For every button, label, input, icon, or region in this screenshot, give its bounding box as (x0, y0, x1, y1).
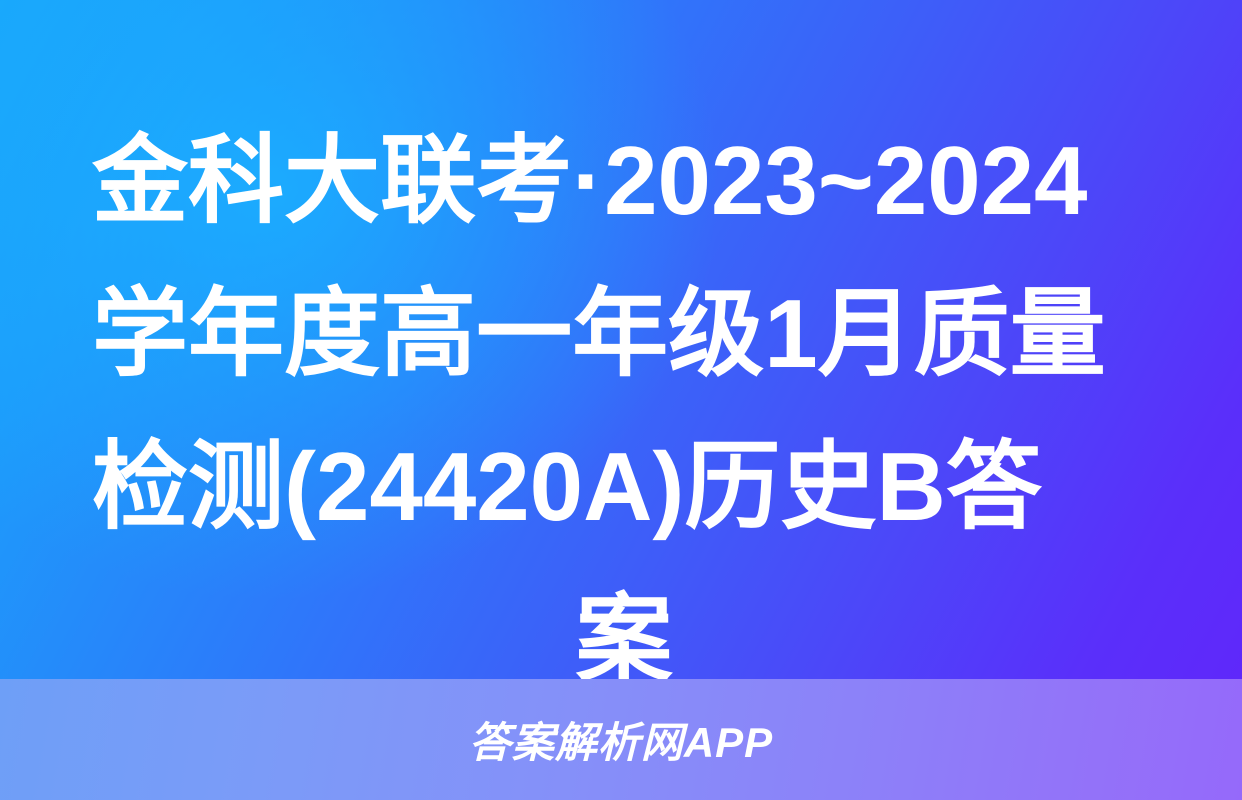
exam-title-line-1: 金科大联考·2023~2024 (92, 104, 1145, 257)
exam-title-line-3: 检测(24420A)历史B答 (92, 410, 1145, 563)
app-brand-bar: 答案解析网APP (0, 679, 1242, 800)
cover-page: 金科大联考·2023~2024 学年度高一年级1月质量 检测(24420A)历史… (0, 0, 1242, 800)
exam-title-line-2: 学年度高一年级1月质量 (92, 257, 1145, 410)
exam-title-block: 金科大联考·2023~2024 学年度高一年级1月质量 检测(24420A)历史… (92, 104, 1156, 679)
exam-title-line-4: 案 (92, 563, 1156, 679)
hero-banner: 金科大联考·2023~2024 学年度高一年级1月质量 检测(24420A)历史… (0, 0, 1242, 679)
app-brand-label: 答案解析网APP (469, 722, 773, 764)
